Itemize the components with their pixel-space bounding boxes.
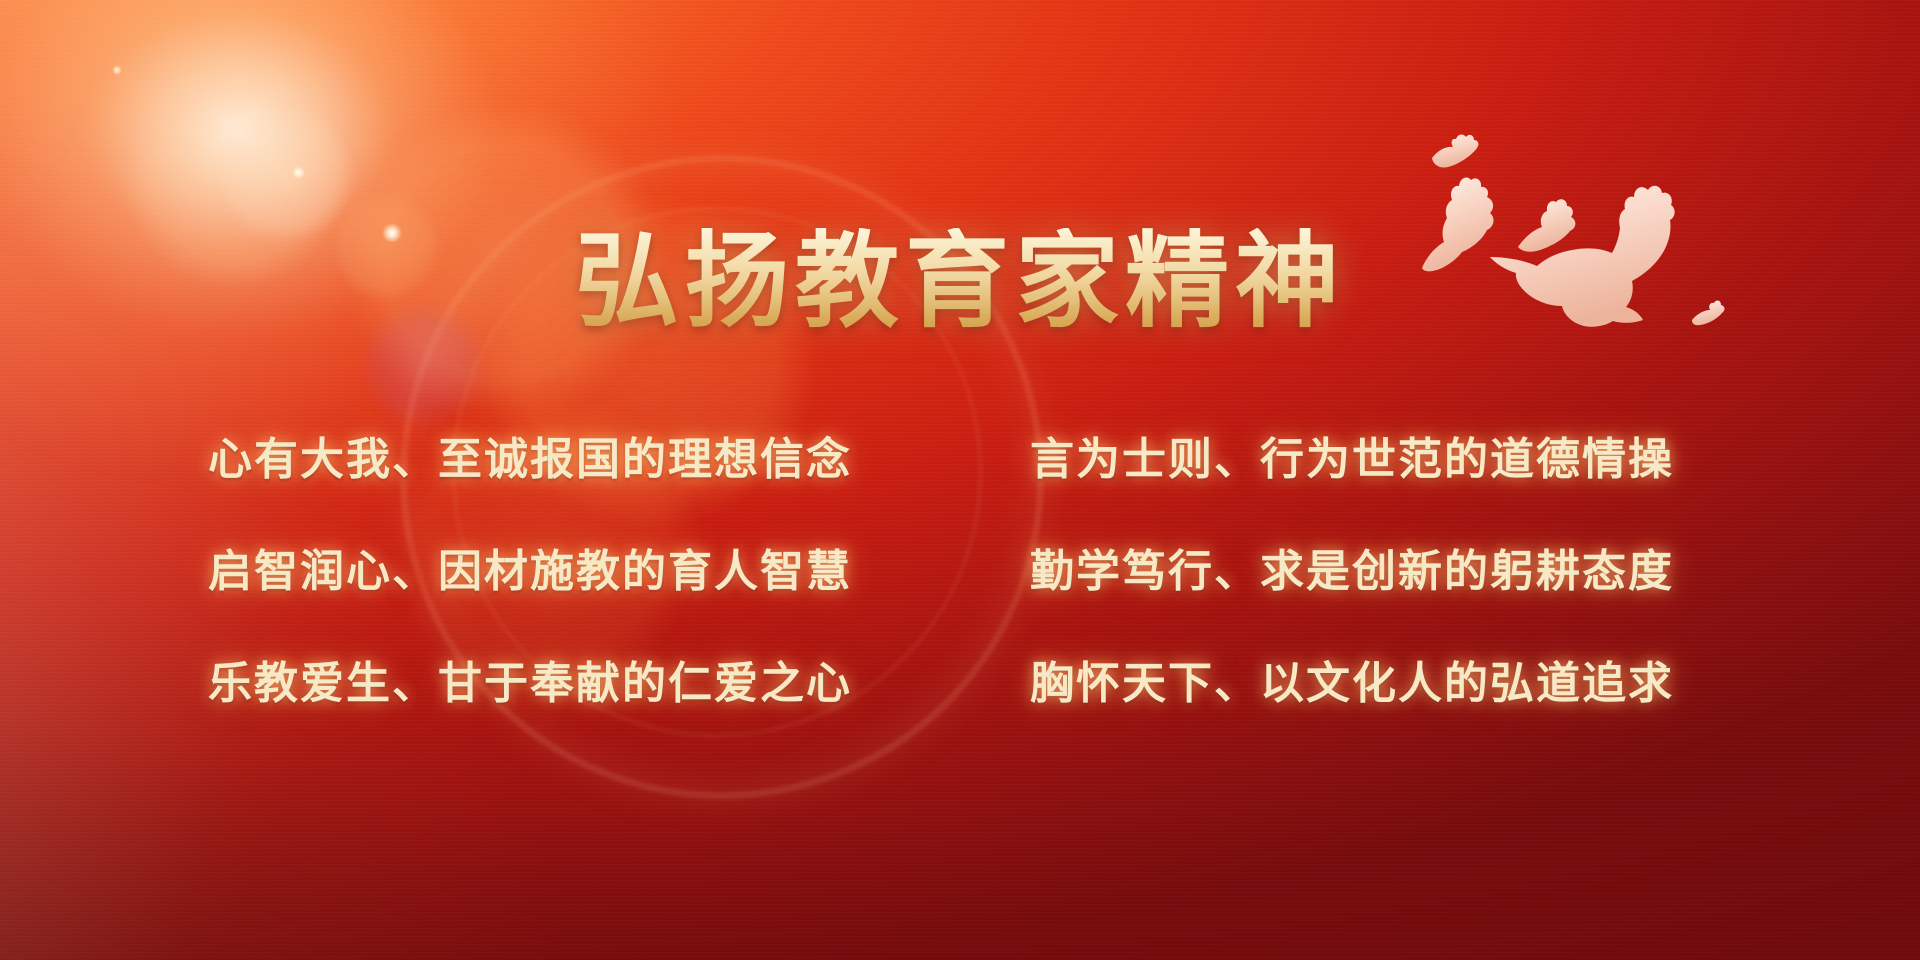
bokeh-circle-5 xyxy=(216,104,356,244)
spirit-line-left-1: 心有大我、至诚报国的理想信念 xyxy=(160,430,960,490)
spirit-line-left-3: 乐教爱生、甘于奉献的仁爱之心 xyxy=(160,654,960,714)
spirit-line-right-3: 胸怀天下、以文化人的弘道追求 xyxy=(960,654,1760,714)
spirit-line-right-1: 言为士则、行为世范的道德情操 xyxy=(960,430,1760,490)
spirit-line-right-2: 勤学笃行、求是创新的躬耕态度 xyxy=(960,542,1760,602)
page-title-text: 弘扬教育家精神 xyxy=(565,228,1355,337)
spirit-line-left-2: 启智润心、因材施教的育人智慧 xyxy=(160,542,960,602)
sparkle-dot-1 xyxy=(292,166,305,179)
page-title: 弘扬教育家精神 xyxy=(0,228,1920,337)
spirit-lines-grid: 心有大我、至诚报国的理想信念 言为士则、行为世范的道德情操 启智润心、因材施教的… xyxy=(160,430,1760,714)
sparkle-dot-3 xyxy=(112,65,122,75)
banner-root: 弘扬教育家精神 心有大我、至诚报国的理想信念 言为士则、行为世范的道德情操 启智… xyxy=(0,0,1920,960)
